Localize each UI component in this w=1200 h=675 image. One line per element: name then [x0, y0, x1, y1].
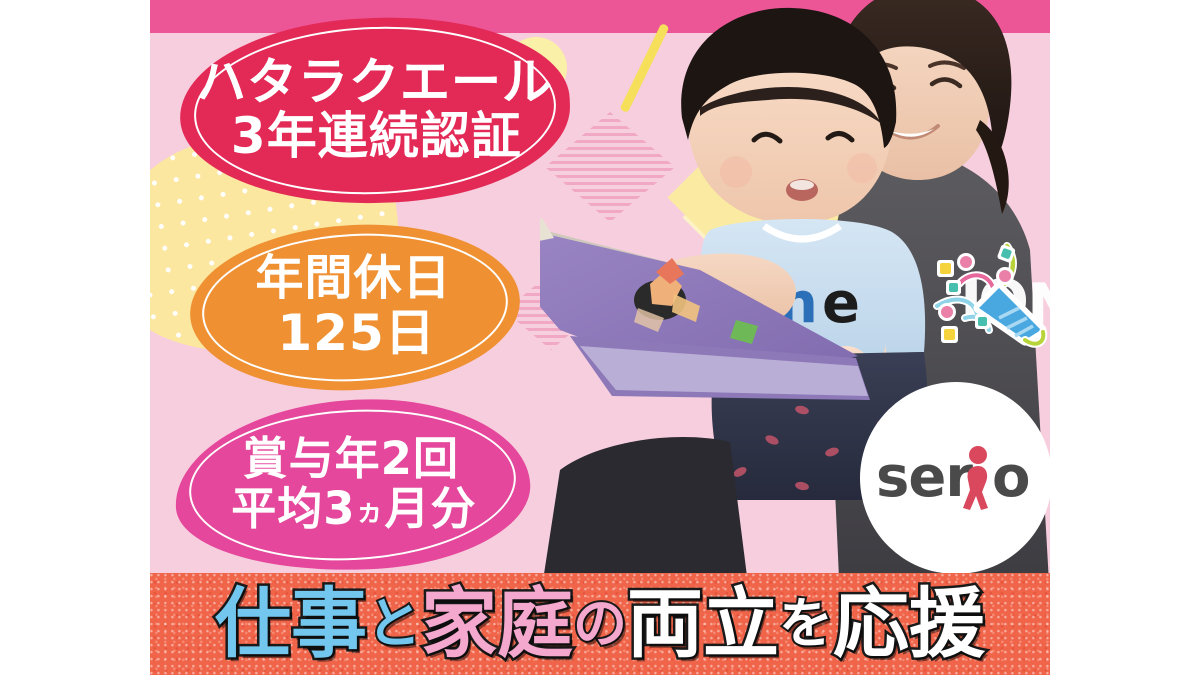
banner-char-6: の — [573, 597, 627, 651]
svg-text:e: e — [822, 271, 860, 336]
banner-text: 仕 事 と 家 庭 の 両 立 を 応 援 — [150, 573, 1050, 675]
badge-bonus-line1: 賞与年2回 — [243, 435, 459, 484]
banner-char-9: を — [779, 597, 833, 651]
badge-bonus: 賞与年2回 平均3ヵ月分 — [171, 391, 534, 579]
badge-hatarakuyell-line2: 3年連続認証 — [231, 108, 522, 165]
serio-logo: ser o — [860, 382, 1050, 574]
banner-char-1: 仕 — [215, 586, 291, 662]
badge-annual-holidays-line1: 年間休日 — [255, 253, 451, 305]
badge-bonus-line2-b: 月分 — [384, 482, 476, 535]
badge-hatarakuyell-line1: ハタラクエール — [196, 56, 553, 108]
screenshot-root: I O N — [0, 0, 1200, 675]
bottom-banner: 仕 事 と 家 庭 の 両 立 を 応 援 — [150, 573, 1050, 675]
badge-bonus-line2: 平均3ヵ月分 — [231, 483, 476, 535]
banner-artboard: I O N — [150, 0, 1050, 675]
banner-char-7: 両 — [627, 586, 703, 662]
svg-text:o: o — [992, 445, 1030, 510]
banner-char-5: 庭 — [497, 586, 573, 662]
badge-annual-holidays-line2: 125日 — [277, 305, 435, 362]
banner-char-8: 立 — [703, 586, 779, 662]
banner-char-10: 応 — [833, 586, 909, 662]
banner-char-2: 事 — [291, 586, 367, 662]
banner-char-4: 家 — [421, 586, 497, 662]
banner-char-3: と — [367, 597, 421, 651]
banner-char-11: 援 — [909, 586, 985, 662]
badge-bonus-line2-small: ヵ — [355, 495, 384, 528]
badge-bonus-line2-a: 平均3 — [231, 482, 355, 535]
svg-text:ser: ser — [876, 445, 973, 510]
party-popper-icon — [915, 222, 1050, 357]
